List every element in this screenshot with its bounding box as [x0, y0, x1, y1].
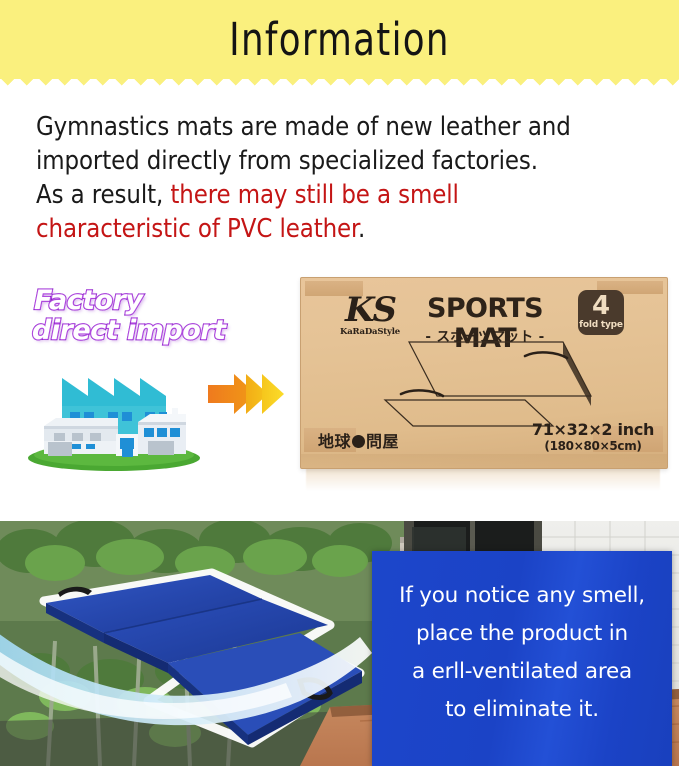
- factory-label-line-1: Factory: [34, 286, 284, 316]
- intro-line-3: As a result, there may still be a smell: [36, 178, 656, 212]
- lifestyle-photo: If you notice any smell, place the produ…: [0, 521, 679, 766]
- notice-line-3: a erll-ventilated area: [372, 653, 672, 691]
- notice-line-1: If you notice any smell,: [372, 577, 672, 615]
- brand-jp-right: 問屋: [366, 432, 399, 451]
- triple-arrow-right-icon: [204, 366, 296, 422]
- fold-type-number: 4: [578, 292, 624, 320]
- box-dimensions: 71×32×2 inch (180×80×5cm): [525, 420, 661, 454]
- box-bottom-shading: [301, 454, 667, 468]
- intro-line-4-red: characteristic of PVC leather: [36, 214, 358, 244]
- intro-line-2: imported directly from specialized facto…: [36, 144, 656, 178]
- intro-paragraph: Gymnastics mats are made of new leather …: [36, 110, 656, 246]
- box-mat-line-art: [377, 340, 607, 430]
- ks-logo-mark: KS: [331, 292, 409, 328]
- fold-type-label: fold type: [578, 320, 624, 330]
- product-box-photo: KS KaRaDaStyle SPORTS MAT - スポーツマット - 4 …: [300, 277, 666, 477]
- intro-line-3-black: As a result,: [36, 180, 170, 210]
- brand-jp-left: 地球: [318, 432, 351, 451]
- factory-label-line-2: direct import: [32, 316, 284, 346]
- intro-line-1: Gymnastics mats are made of new leather …: [36, 110, 656, 144]
- page-title: Information: [41, 14, 639, 66]
- fold-type-badge: 4 fold type: [578, 290, 624, 335]
- intro-line-4: characteristic of PVC leather.: [36, 212, 656, 246]
- notice-line-2: place the product in: [372, 615, 672, 653]
- intro-line-4-period: .: [358, 214, 365, 244]
- box-dimensions-cm: (180×80×5cm): [525, 439, 661, 454]
- box-brand-japanese: 地球問屋: [318, 428, 399, 452]
- box-reflection: [306, 467, 660, 491]
- intro-line-3-red: there may still be a smell: [170, 180, 458, 210]
- factory-icon: [26, 356, 202, 472]
- box-dimensions-inch: 71×32×2 inch: [525, 420, 661, 439]
- notice-panel-text: If you notice any smell, place the produ…: [372, 577, 672, 729]
- ks-logo-subtext: KaRaDaStyle: [331, 327, 409, 337]
- notice-line-4: to eliminate it.: [372, 691, 672, 729]
- notice-panel: If you notice any smell, place the produ…: [372, 551, 672, 766]
- cardboard-box: KS KaRaDaStyle SPORTS MAT - スポーツマット - 4 …: [300, 277, 668, 469]
- header-banner: Information: [0, 0, 679, 92]
- factory-direct-import-label: Factory direct import: [34, 286, 284, 346]
- zigzag-edge: [0, 79, 679, 92]
- globe-icon: [352, 435, 365, 448]
